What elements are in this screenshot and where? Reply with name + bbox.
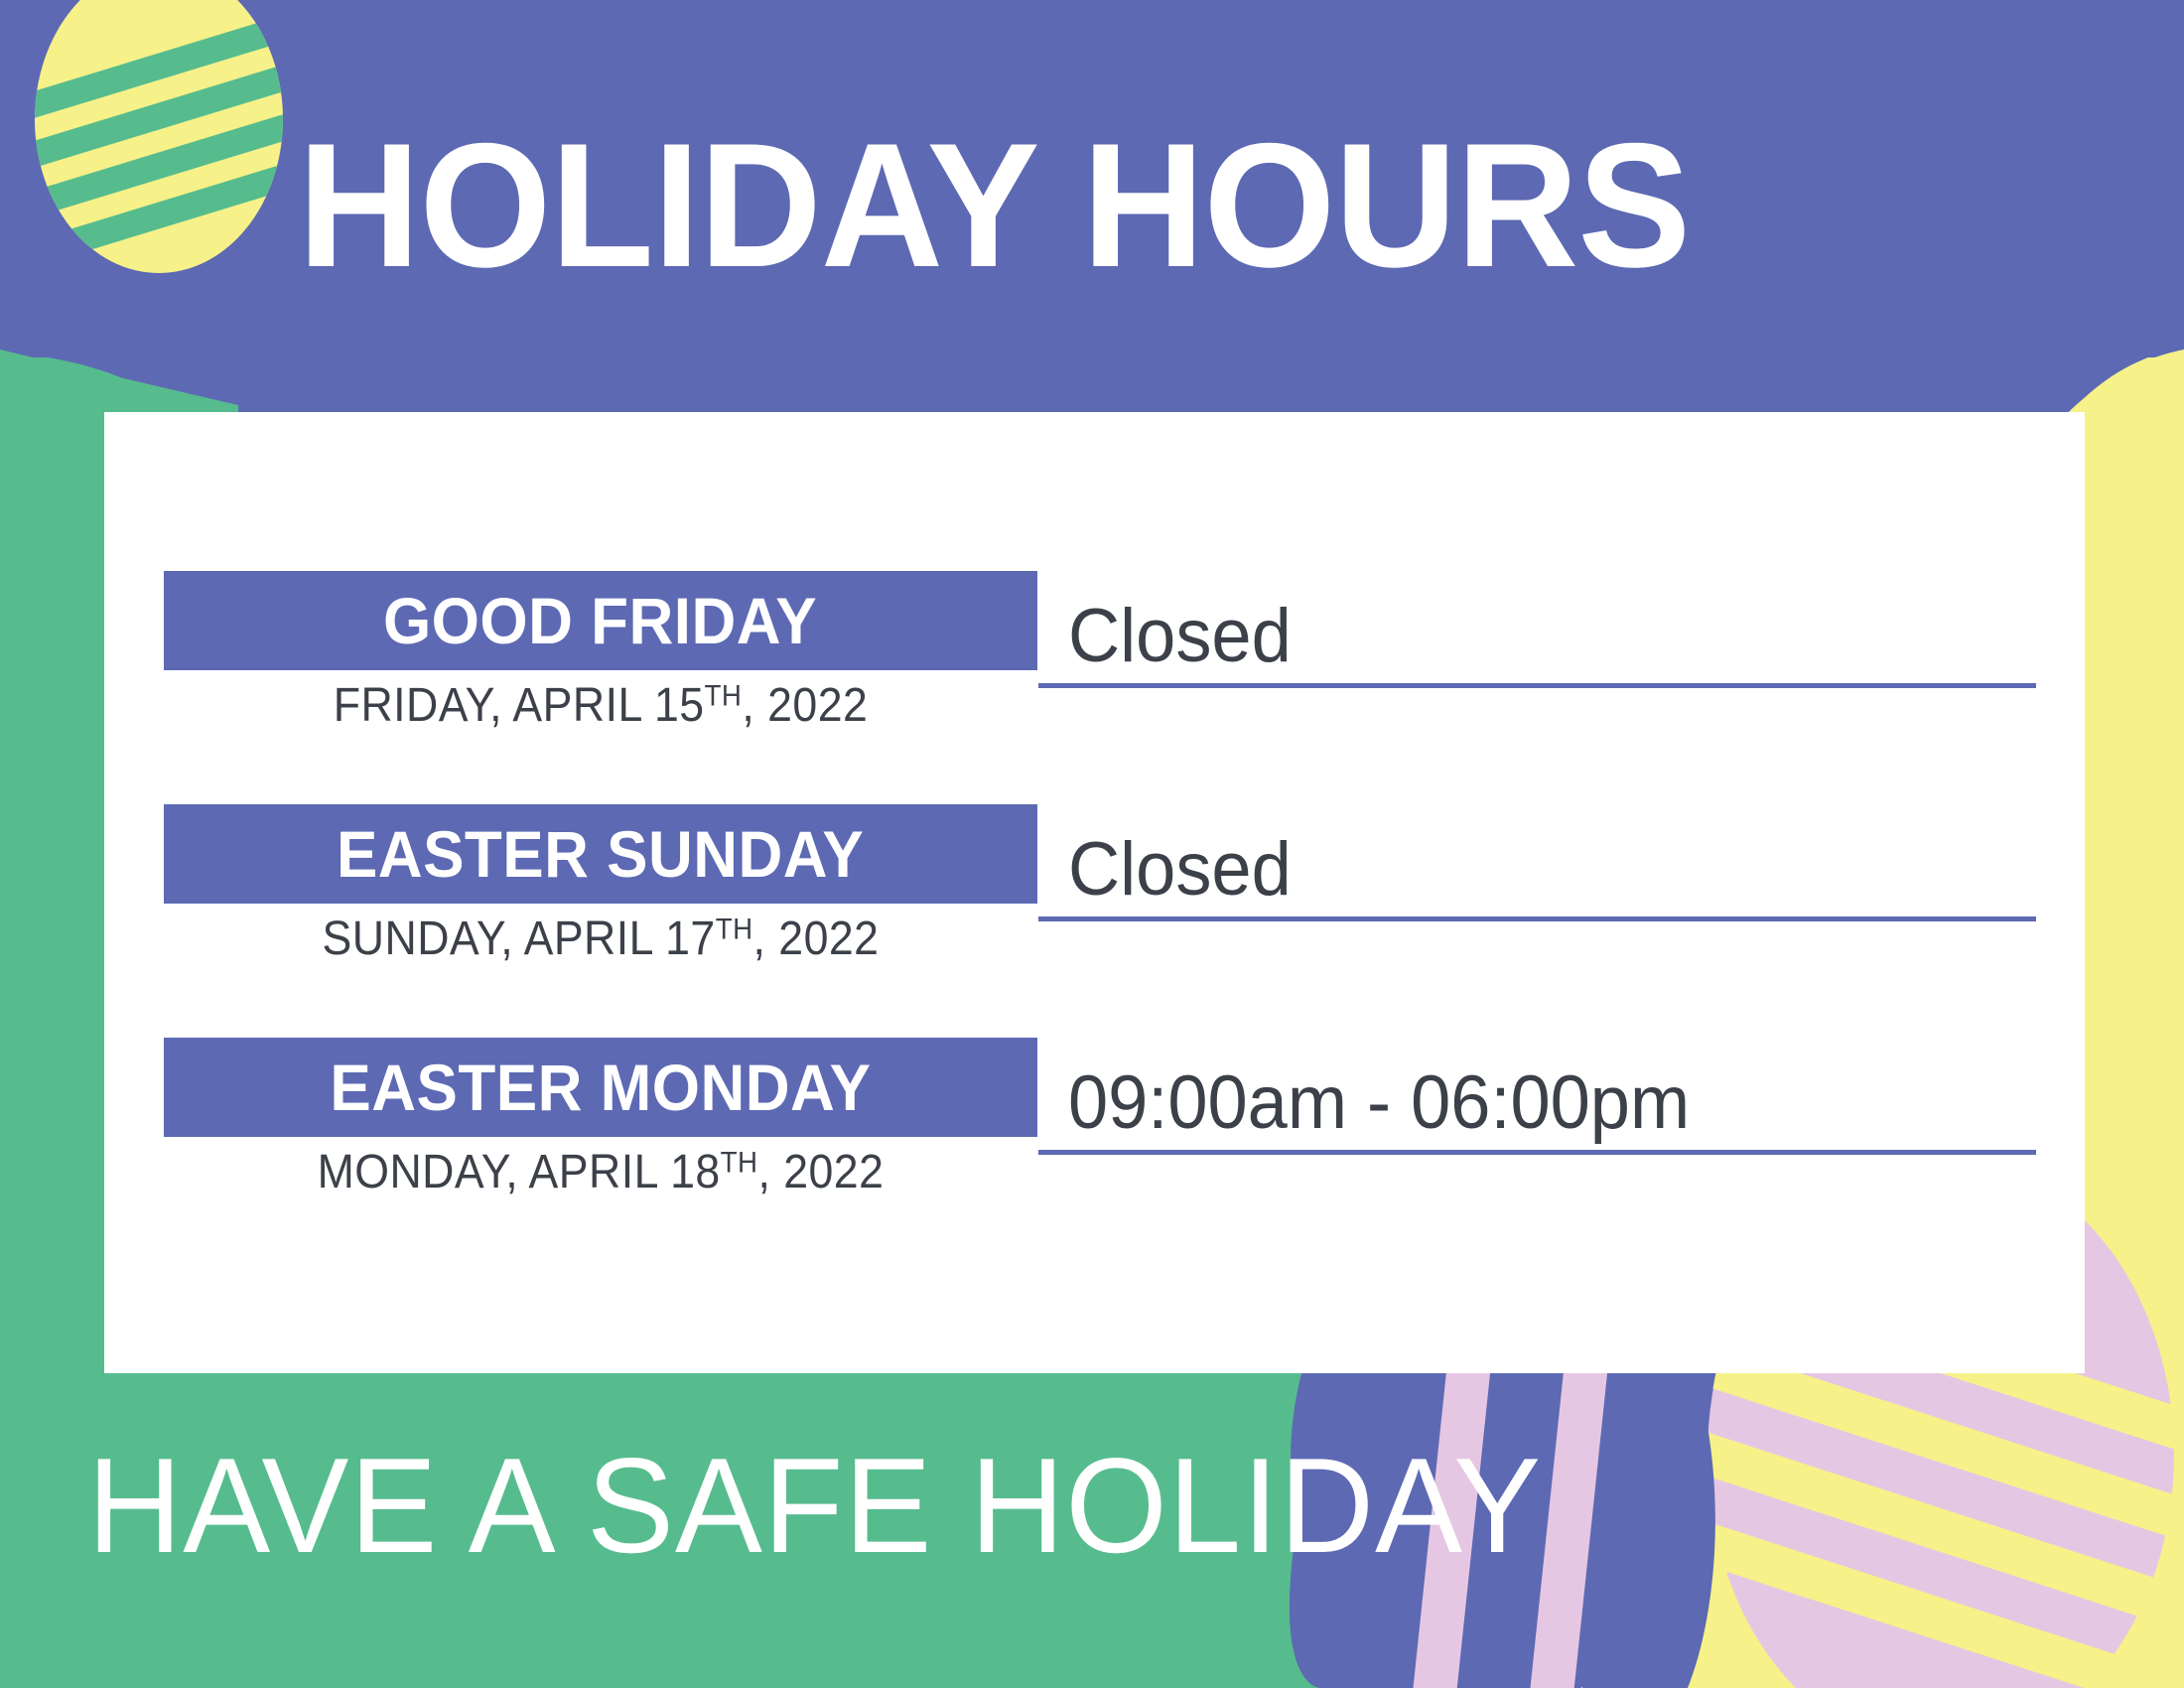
holiday-hours-field: Closed bbox=[1038, 804, 2036, 921]
schedule-list: GOOD FRIDAY FRIDAY, APRIL 15TH, 2022 Clo… bbox=[104, 412, 2085, 1373]
holiday-hours-poster: HOLIDAY HOURS GOOD FRIDAY FRIDAY, APRIL … bbox=[0, 0, 2184, 1688]
holiday-name: GOOD FRIDAY bbox=[383, 588, 817, 653]
page-title: HOLIDAY HOURS bbox=[298, 117, 1690, 294]
schedule-row-good-friday: GOOD FRIDAY FRIDAY, APRIL 15TH, 2022 Clo… bbox=[104, 571, 2085, 819]
holiday-date-suffix: , 2022 bbox=[757, 1146, 884, 1198]
holiday-date-prefix: SUNDAY, APRIL 17 bbox=[323, 913, 716, 965]
holiday-hours: Closed bbox=[1068, 832, 1292, 908]
holiday-date-suffix: , 2022 bbox=[742, 679, 868, 732]
holiday-name: EASTER SUNDAY bbox=[337, 821, 864, 887]
holiday-name-bar: EASTER SUNDAY bbox=[164, 804, 1037, 904]
holiday-date: MONDAY, APRIL 18TH, 2022 bbox=[195, 1145, 1007, 1199]
schedule-row-easter-monday: EASTER MONDAY MONDAY, APRIL 18TH, 2022 0… bbox=[104, 1038, 2085, 1286]
holiday-hours: Closed bbox=[1068, 599, 1292, 674]
holiday-date: FRIDAY, APRIL 15TH, 2022 bbox=[195, 678, 1007, 733]
holiday-hours-underline bbox=[1038, 683, 2036, 688]
footer-tagline: HAVE A SAFE HOLIDAY bbox=[87, 1438, 1542, 1573]
holiday-date: SUNDAY, APRIL 17TH, 2022 bbox=[195, 912, 1007, 966]
holiday-hours-underline bbox=[1038, 916, 2036, 921]
holiday-date-ordinal: TH bbox=[716, 914, 753, 946]
holiday-hours-field: 09:00am - 06:00pm bbox=[1038, 1038, 2036, 1155]
holiday-hours: 09:00am - 06:00pm bbox=[1068, 1065, 1690, 1141]
holiday-date-suffix: , 2022 bbox=[753, 913, 880, 965]
holiday-hours-field: Closed bbox=[1038, 571, 2036, 688]
holiday-hours-underline bbox=[1038, 1150, 2036, 1155]
holiday-date-ordinal: TH bbox=[705, 680, 743, 713]
holiday-date-prefix: FRIDAY, APRIL 15 bbox=[334, 679, 705, 732]
holiday-name: EASTER MONDAY bbox=[330, 1055, 871, 1120]
schedule-row-easter-sunday: EASTER SUNDAY SUNDAY, APRIL 17TH, 2022 C… bbox=[104, 804, 2085, 1053]
holiday-date-ordinal: TH bbox=[721, 1147, 758, 1180]
holiday-name-bar: EASTER MONDAY bbox=[164, 1038, 1037, 1137]
holiday-name-bar: GOOD FRIDAY bbox=[164, 571, 1037, 670]
holiday-date-prefix: MONDAY, APRIL 18 bbox=[318, 1146, 721, 1198]
